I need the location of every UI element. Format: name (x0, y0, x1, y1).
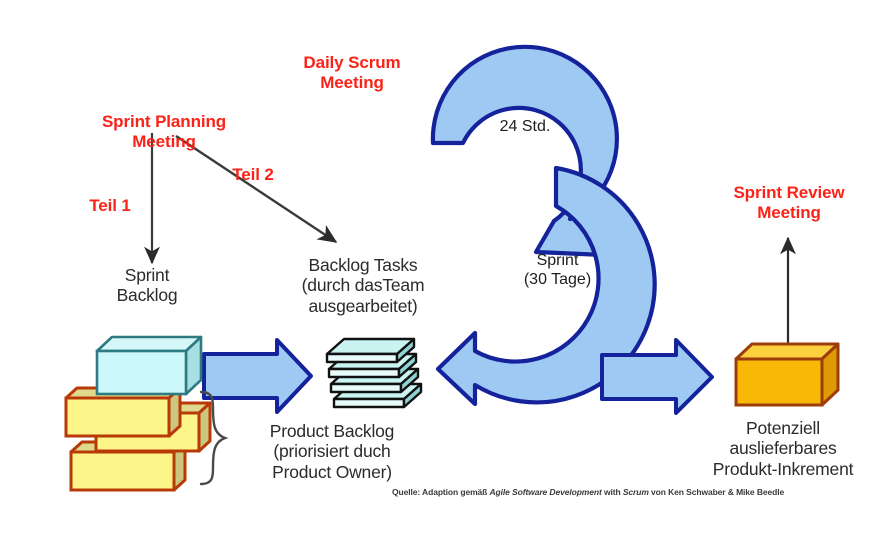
label-sprint-planning-meeting: Sprint Planning Meeting (74, 112, 254, 151)
label-cycle-daily: 24 Std. (470, 118, 580, 137)
label-daily-scrum-meeting: Daily Scrum Meeting (272, 53, 432, 92)
label-sprint-backlog: Sprint Backlog (92, 265, 202, 306)
label-backlog-tasks: Backlog Tasks (durch dasTeam ausgearbeit… (268, 255, 458, 316)
label-teil-1: Teil 1 (80, 196, 140, 216)
label-cycle-sprint: Sprint (30 Tage) (500, 252, 615, 289)
source-middle: with (602, 487, 623, 497)
label-product-backlog: Product Backlog (priorisiert duch Produc… (232, 421, 432, 482)
flow-arrow-left (204, 340, 311, 412)
product-increment-block (736, 344, 838, 405)
backlog-task-stack (327, 339, 421, 407)
label-sprint-review-meeting: Sprint Review Meeting (708, 183, 870, 222)
source-italic-title: Agile Software Development (490, 487, 602, 497)
label-product-increment: Potenziell auslieferbares Produkt-Inkrem… (688, 418, 878, 479)
sprint-backlog-block (97, 337, 201, 394)
source-prefix: Quelle: Adaption gemäß (392, 487, 490, 497)
source-citation: Quelle: Adaption gemäß Agile Software De… (392, 487, 784, 497)
teil-2-arrow (176, 136, 336, 242)
scrum-process-diagram: Daily Scrum Meeting Sprint Planning Meet… (0, 0, 885, 543)
source-suffix: von Ken Schwaber & Mike Beedle (649, 487, 784, 497)
source-italic-scrum: Scrum (623, 487, 649, 497)
label-teil-2: Teil 2 (222, 165, 284, 185)
